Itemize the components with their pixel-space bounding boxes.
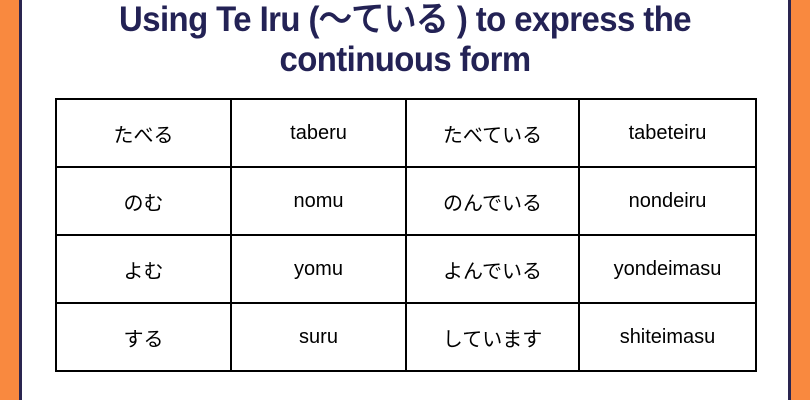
cell-teiru-romaji: tabeteiru (579, 99, 756, 167)
cell-dictionary-kana: のむ (56, 167, 231, 235)
cell-teiru-romaji: nondeiru (579, 167, 756, 235)
verb-conjugation-table: たべる taberu たべている tabeteiru のむ nomu のんでいる… (55, 98, 757, 372)
cell-teiru-romaji: shiteimasu (579, 303, 756, 371)
right-accent-rule (788, 0, 791, 400)
left-accent-rule (19, 0, 22, 400)
slide-title: Using Te Iru (～ている ) to express the cont… (24, 0, 786, 80)
cell-dictionary-kana: する (56, 303, 231, 371)
cell-dictionary-romaji: nomu (231, 167, 406, 235)
cell-teiru-kana: のんでいる (406, 167, 579, 235)
cell-teiru-kana: しています (406, 303, 579, 371)
slide-canvas: Using Te Iru (～ている ) to express the cont… (0, 0, 810, 400)
cell-dictionary-kana: たべる (56, 99, 231, 167)
cell-dictionary-romaji: yomu (231, 235, 406, 303)
cell-teiru-kana: たべている (406, 99, 579, 167)
cell-dictionary-romaji: taberu (231, 99, 406, 167)
cell-dictionary-romaji: suru (231, 303, 406, 371)
right-accent-bar (791, 0, 810, 400)
slide-title-text: Using Te Iru (～ている ) to express the cont… (47, 0, 763, 80)
cell-dictionary-kana: よむ (56, 235, 231, 303)
table-body: たべる taberu たべている tabeteiru のむ nomu のんでいる… (56, 99, 756, 371)
table-row: のむ nomu のんでいる nondeiru (56, 167, 756, 235)
table-row: たべる taberu たべている tabeteiru (56, 99, 756, 167)
left-accent-bar (0, 0, 19, 400)
cell-teiru-kana: よんでいる (406, 235, 579, 303)
table-row: する suru しています shiteimasu (56, 303, 756, 371)
table-row: よむ yomu よんでいる yondeimasu (56, 235, 756, 303)
cell-teiru-romaji: yondeimasu (579, 235, 756, 303)
